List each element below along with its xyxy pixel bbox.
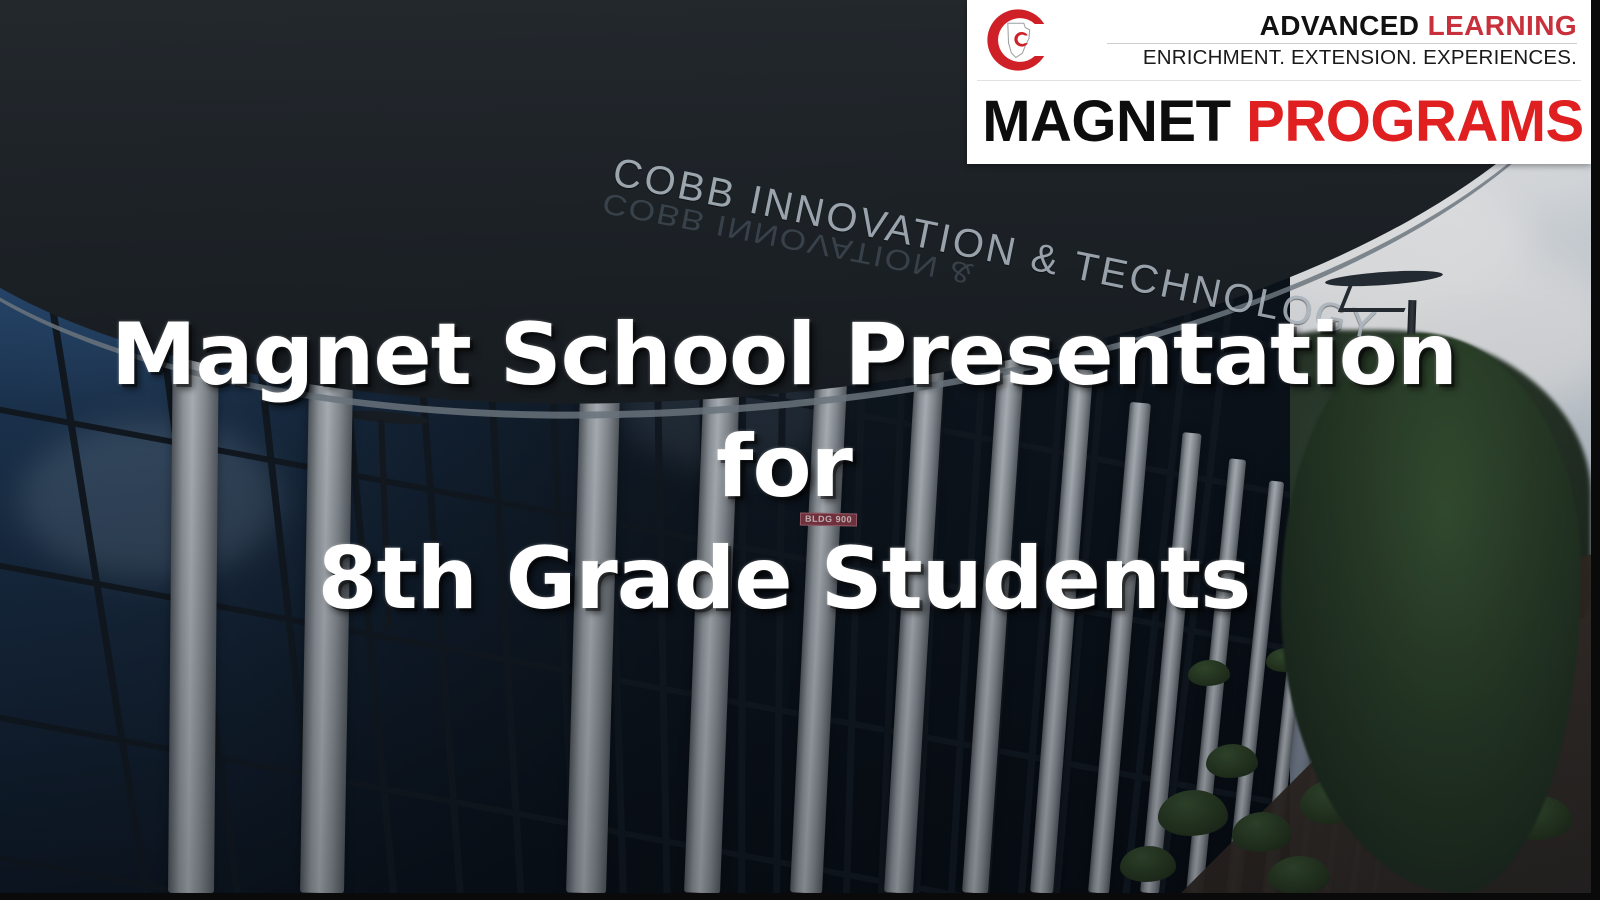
- headline-part-learning: LEARNING: [1428, 10, 1577, 41]
- shrub: [1206, 744, 1258, 778]
- headline-part-advanced: ADVANCED: [1260, 10, 1428, 41]
- advanced-learning-logo-card: ADVANCED LEARNING ENRICHMENT. EXTENSION.…: [967, 0, 1591, 164]
- lamp-arm: [1338, 282, 1416, 312]
- shrub: [1158, 790, 1228, 836]
- shrub: [1268, 856, 1330, 893]
- wordmark-part-magnet: MAGNET: [982, 89, 1246, 154]
- wordmark-part-programs: PROGRAMS: [1246, 89, 1584, 154]
- advanced-learning-headline: ADVANCED LEARNING: [1260, 11, 1577, 40]
- cobb-c-logo-icon: [981, 5, 1055, 75]
- headline-rule: [1107, 43, 1577, 44]
- presentation-slide: COBB INNOVATION & TECHNOLOGY COBB INNOVA…: [0, 0, 1600, 900]
- shrub: [1120, 846, 1176, 882]
- shrub: [1232, 812, 1292, 852]
- logo-card-bottom-row: MAGNET PROGRAMS: [967, 81, 1591, 163]
- advanced-learning-tagline: ENRICHMENT. EXTENSION. EXPERIENCES.: [1143, 47, 1577, 70]
- magnet-programs-wordmark: MAGNET PROGRAMS: [982, 93, 1584, 151]
- logo-card-top-row: ADVANCED LEARNING ENRICHMENT. EXTENSION.…: [967, 0, 1591, 80]
- building-number-sign: BLDG 900: [800, 513, 857, 527]
- shrub: [1188, 660, 1230, 686]
- logo-card-text-column: ADVANCED LEARNING ENRICHMENT. EXTENSION.…: [1055, 11, 1585, 70]
